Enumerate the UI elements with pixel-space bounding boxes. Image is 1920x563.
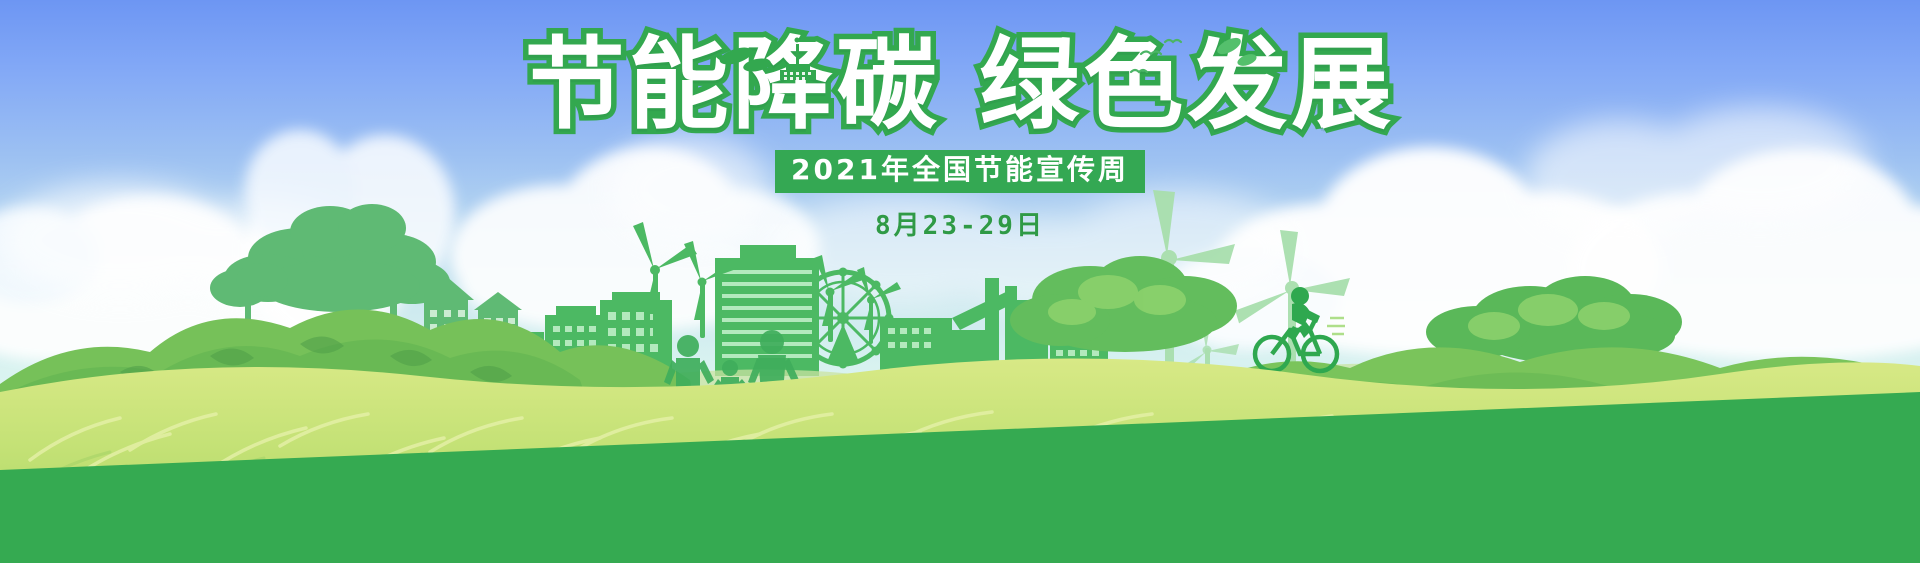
clean-factory-with-leaves-icon: [700, 18, 960, 98]
title-block: 节能降碳 绿色发展 2021年全国节能宣传周 8月23-29日: [0, 34, 1920, 242]
energy-saving-campaign-banner: 节能降碳 绿色发展 2021年全国节能宣传周 8月23-29日: [0, 0, 1920, 563]
date-range-text: 8月23-29日: [0, 205, 1920, 242]
subtitle-badge: 2021年全国节能宣传周: [775, 150, 1145, 193]
birds-icon: [1125, 28, 1265, 98]
